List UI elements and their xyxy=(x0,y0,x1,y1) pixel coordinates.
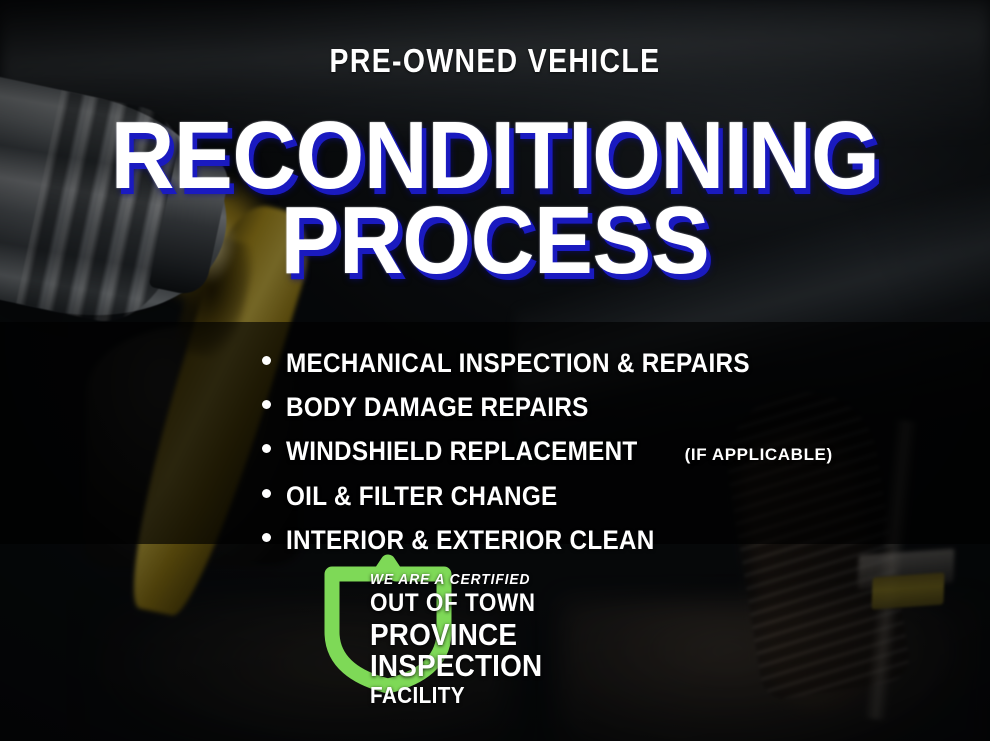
list-item: MECHANICAL INSPECTION & REPAIRS xyxy=(262,345,833,381)
list-item: WINDSHIELD REPLACEMENT (IF APPLICABLE) xyxy=(262,433,833,469)
service-note: (IF APPLICABLE) xyxy=(685,444,833,467)
list-item: OIL & FILTER CHANGE xyxy=(262,478,833,514)
bullet-dot-icon xyxy=(262,533,271,542)
service-label: OIL & FILTER CHANGE xyxy=(286,478,558,514)
certification-badge: WE ARE A CERTIFIED OUT OF TOWN PROVINCE … xyxy=(326,558,686,690)
bullet-dot-icon xyxy=(262,444,271,453)
eyebrow-heading: PRE-OWNED VEHICLE xyxy=(69,44,920,77)
list-item: BODY DAMAGE REPAIRS xyxy=(262,389,833,425)
services-list: MECHANICAL INSPECTION & REPAIRS BODY DAM… xyxy=(262,345,833,566)
badge-line-2: OUT OF TOWN xyxy=(370,591,654,616)
poster-content: PRE-OWNED VEHICLE RECONDITIONING PROCESS… xyxy=(0,0,990,741)
service-label: INTERIOR & EXTERIOR CLEAN xyxy=(286,522,655,558)
service-label: BODY DAMAGE REPAIRS xyxy=(286,389,589,425)
bullet-dot-icon xyxy=(262,489,271,498)
service-label: MECHANICAL INSPECTION & REPAIRS xyxy=(286,345,750,381)
bullet-dot-icon xyxy=(262,356,271,365)
list-item: INTERIOR & EXTERIOR CLEAN xyxy=(262,522,833,558)
badge-line-3: PROVINCE INSPECTION xyxy=(370,619,654,681)
badge-text-block: WE ARE A CERTIFIED OUT OF TOWN PROVINCE … xyxy=(370,572,686,707)
title-line-2: PROCESS xyxy=(40,199,951,283)
badge-line-4: FACILITY xyxy=(370,684,654,707)
page-title: RECONDITIONING PROCESS xyxy=(0,114,990,283)
badge-line-1: WE ARE A CERTIFIED xyxy=(370,572,661,587)
service-label: WINDSHIELD REPLACEMENT xyxy=(286,433,638,469)
poster-canvas: PRE-OWNED VEHICLE RECONDITIONING PROCESS… xyxy=(0,0,990,741)
bullet-dot-icon xyxy=(262,400,271,409)
